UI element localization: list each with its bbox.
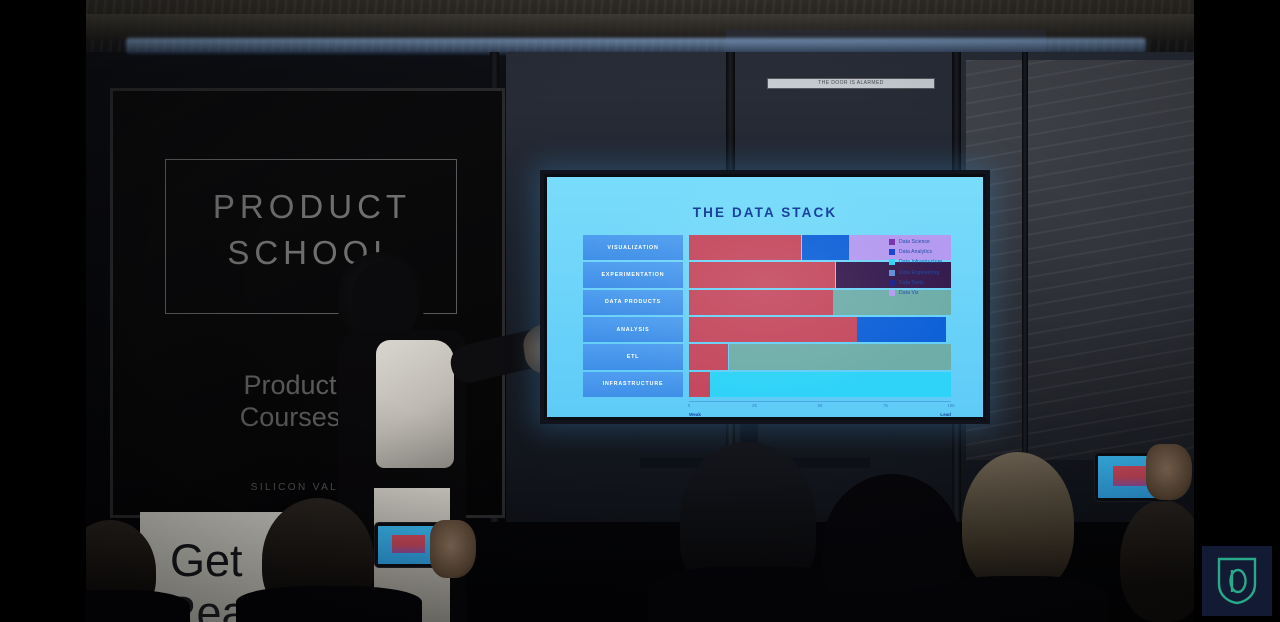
- legend-label: Data Viz: [899, 290, 919, 296]
- legend-item: Data Science: [889, 239, 973, 245]
- axis-tick-label: 25: [752, 403, 757, 408]
- chart-bar-row: [689, 317, 951, 342]
- banner-logo-line1: PRODUCT: [166, 188, 458, 226]
- chart-bar-segment: [689, 317, 857, 342]
- chart-bar-segment: [710, 372, 951, 397]
- audience-head: [962, 452, 1074, 594]
- chart-bar-row: [689, 372, 951, 397]
- hand-holding-phone: [1146, 444, 1192, 500]
- legend-label: Data Infrastructure: [899, 259, 942, 265]
- banner-logo-line2: SCHOOL: [166, 234, 458, 272]
- axis-line: [689, 401, 951, 402]
- audience-shoulders: [236, 586, 422, 622]
- slide-title: THE DATA STACK: [547, 205, 983, 220]
- legend-label: Data Analytics: [899, 249, 932, 255]
- legend-swatch: [889, 259, 895, 265]
- letterbox-right: [1194, 0, 1280, 622]
- chart-row-label: INFRASTRUCTURE: [583, 372, 683, 397]
- legend-swatch: [889, 249, 895, 255]
- legend-swatch: [889, 280, 895, 286]
- axis-tick-label: 50: [818, 403, 823, 408]
- letterbox-left: [0, 0, 86, 622]
- presentation-display: THE DATA STACK VISUALIZATIONEXPERIMENTAT…: [540, 170, 990, 424]
- screenshot-scene: THE DOOR IS ALARMED PRODUCT SCHOOL Produ…: [0, 0, 1280, 622]
- slide: THE DATA STACK VISUALIZATIONEXPERIMENTAT…: [547, 177, 983, 417]
- legend-swatch: [889, 239, 895, 245]
- axis-tick-label: 100: [948, 403, 955, 408]
- concrete-wall-panel: [966, 60, 1194, 460]
- phone-mini-chart: [1113, 466, 1149, 486]
- chart-bar-segment: [689, 372, 710, 397]
- chart-row-label: EXPERIMENTATION: [583, 262, 683, 287]
- axis-start-label: Weak: [689, 412, 701, 417]
- axis-end-label: Lead: [940, 412, 951, 417]
- hand-holding-phone: [430, 520, 476, 578]
- overhead-sign-text: THE DOOR IS ALARMED: [768, 79, 934, 88]
- phone-mini-chart: [392, 535, 425, 553]
- legend-label: Data Tools: [899, 280, 924, 286]
- legend-swatch: [889, 290, 895, 296]
- chart-row-label: ETL: [583, 344, 683, 369]
- chart-row-label: VISUALIZATION: [583, 235, 683, 260]
- legend-label: Data Engineering: [899, 270, 939, 276]
- chart-row-label: ANALYSIS: [583, 317, 683, 342]
- shield-logo-icon: [1215, 556, 1259, 606]
- legend-item: Data Infrastructure: [889, 259, 973, 265]
- chart-x-axis: 0255075100 Weak Lead: [689, 401, 951, 417]
- audience-shoulders: [932, 576, 1108, 622]
- chart-bar-segment: [689, 262, 835, 287]
- chart-row-label: DATA PRODUCTS: [583, 290, 683, 315]
- presenter-top: [376, 340, 454, 468]
- chart-bar-segment: [689, 290, 833, 315]
- presenter-head: [352, 262, 418, 340]
- legend-swatch: [889, 270, 895, 276]
- legend-item: Data Analytics: [889, 249, 973, 255]
- overhead-warning-sign: THE DOOR IS ALARMED: [767, 78, 935, 89]
- chart-legend: Data ScienceData AnalyticsData Infrastru…: [889, 239, 973, 300]
- legend-item: Data Viz: [889, 290, 973, 296]
- chart-bar-segment: [857, 317, 946, 342]
- chart-bar-row: [689, 344, 951, 369]
- poster-line1: Get: [170, 536, 243, 586]
- chart-bar-segment: [729, 344, 951, 369]
- chart-bar-segment: [689, 344, 728, 369]
- axis-tick-label: 75: [883, 403, 888, 408]
- legend-item: Data Tools: [889, 280, 973, 286]
- legend-item: Data Engineering: [889, 270, 973, 276]
- chart-bar-segment: [802, 235, 849, 260]
- chart-row-labels: VISUALIZATIONEXPERIMENTATIONDATA PRODUCT…: [583, 235, 683, 397]
- product-school-watermark: [1202, 546, 1272, 616]
- legend-label: Data Science: [899, 239, 930, 245]
- axis-tick-label: 0: [688, 403, 690, 408]
- chart-bar-segment: [689, 235, 801, 260]
